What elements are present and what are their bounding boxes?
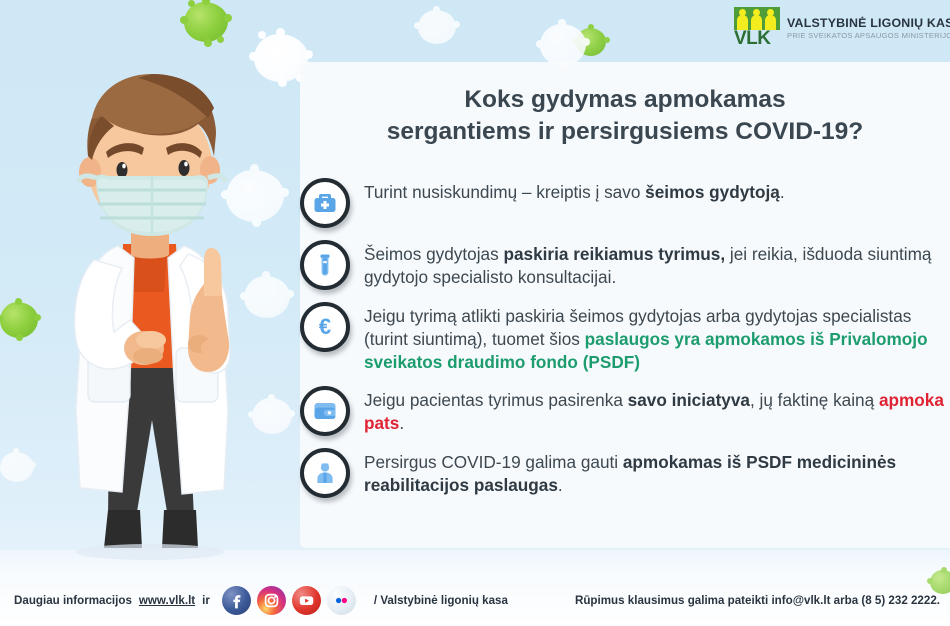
vlk-logo: VLK VALSTYBINĖ LIGONIŲ KASA PRIE SVEIKAT… (734, 6, 950, 50)
list-item-text: Jeigu tyrimą atlikti paskiria šeimos gyd… (364, 302, 949, 374)
vlk-people-icon (734, 7, 780, 30)
logo-title: VALSTYBINĖ LIGONIŲ KASA (787, 17, 950, 30)
footer-and-label: ir (202, 594, 210, 607)
list-item: Jeigu pacientas tyrimus pasirenka savo i… (300, 386, 950, 436)
virus-decoration-white (418, 10, 456, 44)
list-item-text: Šeimos gydytojas paskiria reikiamus tyri… (364, 240, 949, 289)
vlk-mark-text: VLK (734, 29, 771, 49)
infographic-poster: VLK VALSTYBINĖ LIGONIŲ KASA PRIE SVEIKAT… (0, 0, 950, 626)
footer-social-handle: / Valstybinė ligonių kasa (374, 594, 508, 607)
text-part: Jeigu pacientas tyrimus pasirenka (364, 390, 628, 410)
text-part: . (558, 475, 563, 495)
list-item: Turint nusiskundimų – kreiptis į savo še… (300, 178, 950, 228)
virus-decoration-green (184, 2, 228, 42)
text-part: Turint nusiskundimų – kreiptis į savo (364, 182, 645, 202)
page-title-line1: Koks gydymas apmokamas (464, 86, 785, 113)
vlk-logo-mark: VLK (734, 7, 780, 49)
page-title: Koks gydymas apmokamas sergantiems ir pe… (300, 84, 950, 148)
text-part: Šeimos gydytojas (364, 244, 503, 264)
list-item-text: Persirgus COVID-19 galima gauti apmokama… (364, 448, 949, 497)
test-tube-icon (300, 240, 350, 290)
euro-icon: € (300, 302, 350, 352)
social-links (222, 586, 356, 615)
footer-bar: Daugiau informacijos www.vlk.lt ir (0, 574, 950, 626)
svg-text:€: € (319, 314, 331, 339)
text-part-bold: paskiria reikiamus tyrimus, (503, 244, 725, 264)
text-part: Persirgus COVID-19 galima gauti (364, 452, 623, 472)
wallet-icon (300, 386, 350, 436)
footer-website-link[interactable]: www.vlk.lt (139, 594, 195, 607)
list-item: Persirgus COVID-19 galima gauti apmokama… (300, 448, 950, 498)
patient-icon (300, 448, 350, 498)
text-part-bold: šeimos gydytoją (645, 182, 780, 202)
list-item: € Jeigu tyrimą atlikti paskiria šeimos g… (300, 302, 950, 374)
logo-subtitle: PRIE SVEIKATOS APSAUGOS MINISTERIJOS (787, 32, 950, 40)
flickr-icon[interactable] (327, 586, 356, 615)
list-item-text: Jeigu pacientas tyrimus pasirenka savo i… (364, 386, 949, 435)
medical-bag-icon (300, 178, 350, 228)
footer-contact: Rūpimus klausimus galima pateikti info@v… (575, 594, 940, 607)
list-item: Šeimos gydytojas paskiria reikiamus tyri… (300, 240, 950, 290)
text-part: . (399, 413, 404, 433)
bullet-list: Turint nusiskundimų – kreiptis į savo še… (300, 178, 950, 510)
virus-decoration-white (540, 24, 586, 66)
text-part-bold: savo iniciatyva (628, 390, 750, 410)
youtube-icon[interactable] (292, 586, 321, 615)
text-part: . (780, 182, 785, 202)
footer-more-info-label: Daugiau informacijos (14, 594, 132, 607)
list-item-text: Turint nusiskundimų – kreiptis į savo še… (364, 178, 785, 204)
text-part: , jų faktinę kainą (750, 390, 879, 410)
facebook-icon[interactable] (222, 586, 251, 615)
page-title-line2: sergantiems ir persirgusiems COVID-19? (300, 116, 950, 148)
doctor-illustration (18, 48, 288, 568)
instagram-icon[interactable] (257, 586, 286, 615)
